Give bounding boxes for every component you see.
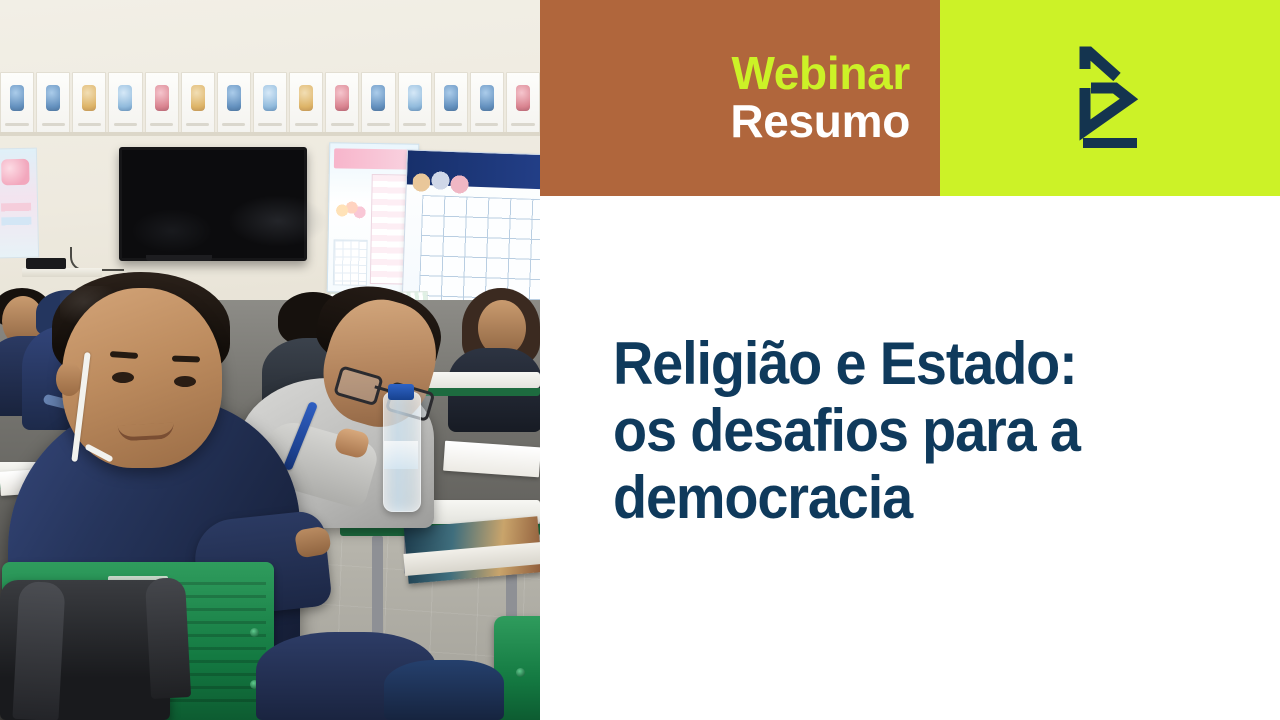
wall-poster-left	[0, 148, 39, 259]
alphabet-card	[470, 72, 504, 134]
tv-screen-glare-secondary	[131, 209, 213, 252]
page-title-line-2: os desafios para a	[613, 397, 1208, 464]
alphabet-card	[253, 72, 287, 134]
alphabet-card	[506, 72, 540, 134]
desk-leg	[372, 536, 383, 646]
calendar-poster-header	[334, 148, 414, 169]
tv-stand	[146, 255, 212, 261]
backpack-strap-left	[12, 581, 65, 720]
kicker-line-webinar: Webinar	[731, 50, 910, 98]
photo-content	[0, 0, 540, 720]
chair-screw	[250, 628, 259, 637]
play-button-logo	[1077, 42, 1143, 154]
alphabet-card	[108, 72, 142, 134]
wall-mounted-tv	[119, 147, 307, 261]
water-bottle	[383, 392, 421, 512]
blue-poster-characters	[412, 167, 473, 195]
foreground-student-ear	[56, 362, 82, 396]
remote-control	[26, 258, 66, 269]
alphabet-card-strip	[0, 72, 540, 134]
bottle-label	[384, 441, 418, 469]
card-rail	[0, 132, 540, 136]
alphabet-card	[181, 72, 215, 134]
page-title-line-1: Religião e Estado:	[613, 330, 1208, 397]
wall-shelf	[22, 268, 102, 277]
alphabet-card	[398, 72, 432, 134]
webinar-summary-slide: Webinar Resumo Religião e Estado: os des…	[0, 0, 1280, 720]
calendar-poster-grid	[333, 239, 368, 286]
classroom-photo	[0, 0, 540, 720]
eyebrow-right	[172, 356, 200, 363]
logo-band	[940, 0, 1280, 196]
kicker-line-resumo: Resumo	[730, 98, 910, 146]
alphabet-card	[72, 72, 106, 134]
eye-right	[174, 376, 196, 387]
chair-screw	[516, 668, 525, 677]
tv-screen-glare	[228, 195, 328, 247]
alphabet-card	[217, 72, 251, 134]
calendar-poster-illustration	[334, 195, 367, 226]
alphabet-card	[325, 72, 359, 134]
alphabet-card	[36, 72, 70, 134]
page-title: Religião e Estado: os desafios para a de…	[613, 330, 1208, 532]
alphabet-card	[145, 72, 179, 134]
bottle-cap	[388, 384, 414, 400]
alphabet-card	[434, 72, 468, 134]
kicker-band: Webinar Resumo	[540, 0, 940, 196]
backpack-strap-right	[145, 577, 191, 699]
eye-left	[112, 372, 134, 383]
background-student-lap	[384, 660, 504, 720]
alphabet-card	[361, 72, 395, 134]
alphabet-card	[289, 72, 323, 134]
alphabet-card	[0, 72, 34, 134]
page-title-line-3: democracia	[613, 464, 1208, 531]
content-panel: Webinar Resumo Religião e Estado: os des…	[540, 0, 1280, 720]
